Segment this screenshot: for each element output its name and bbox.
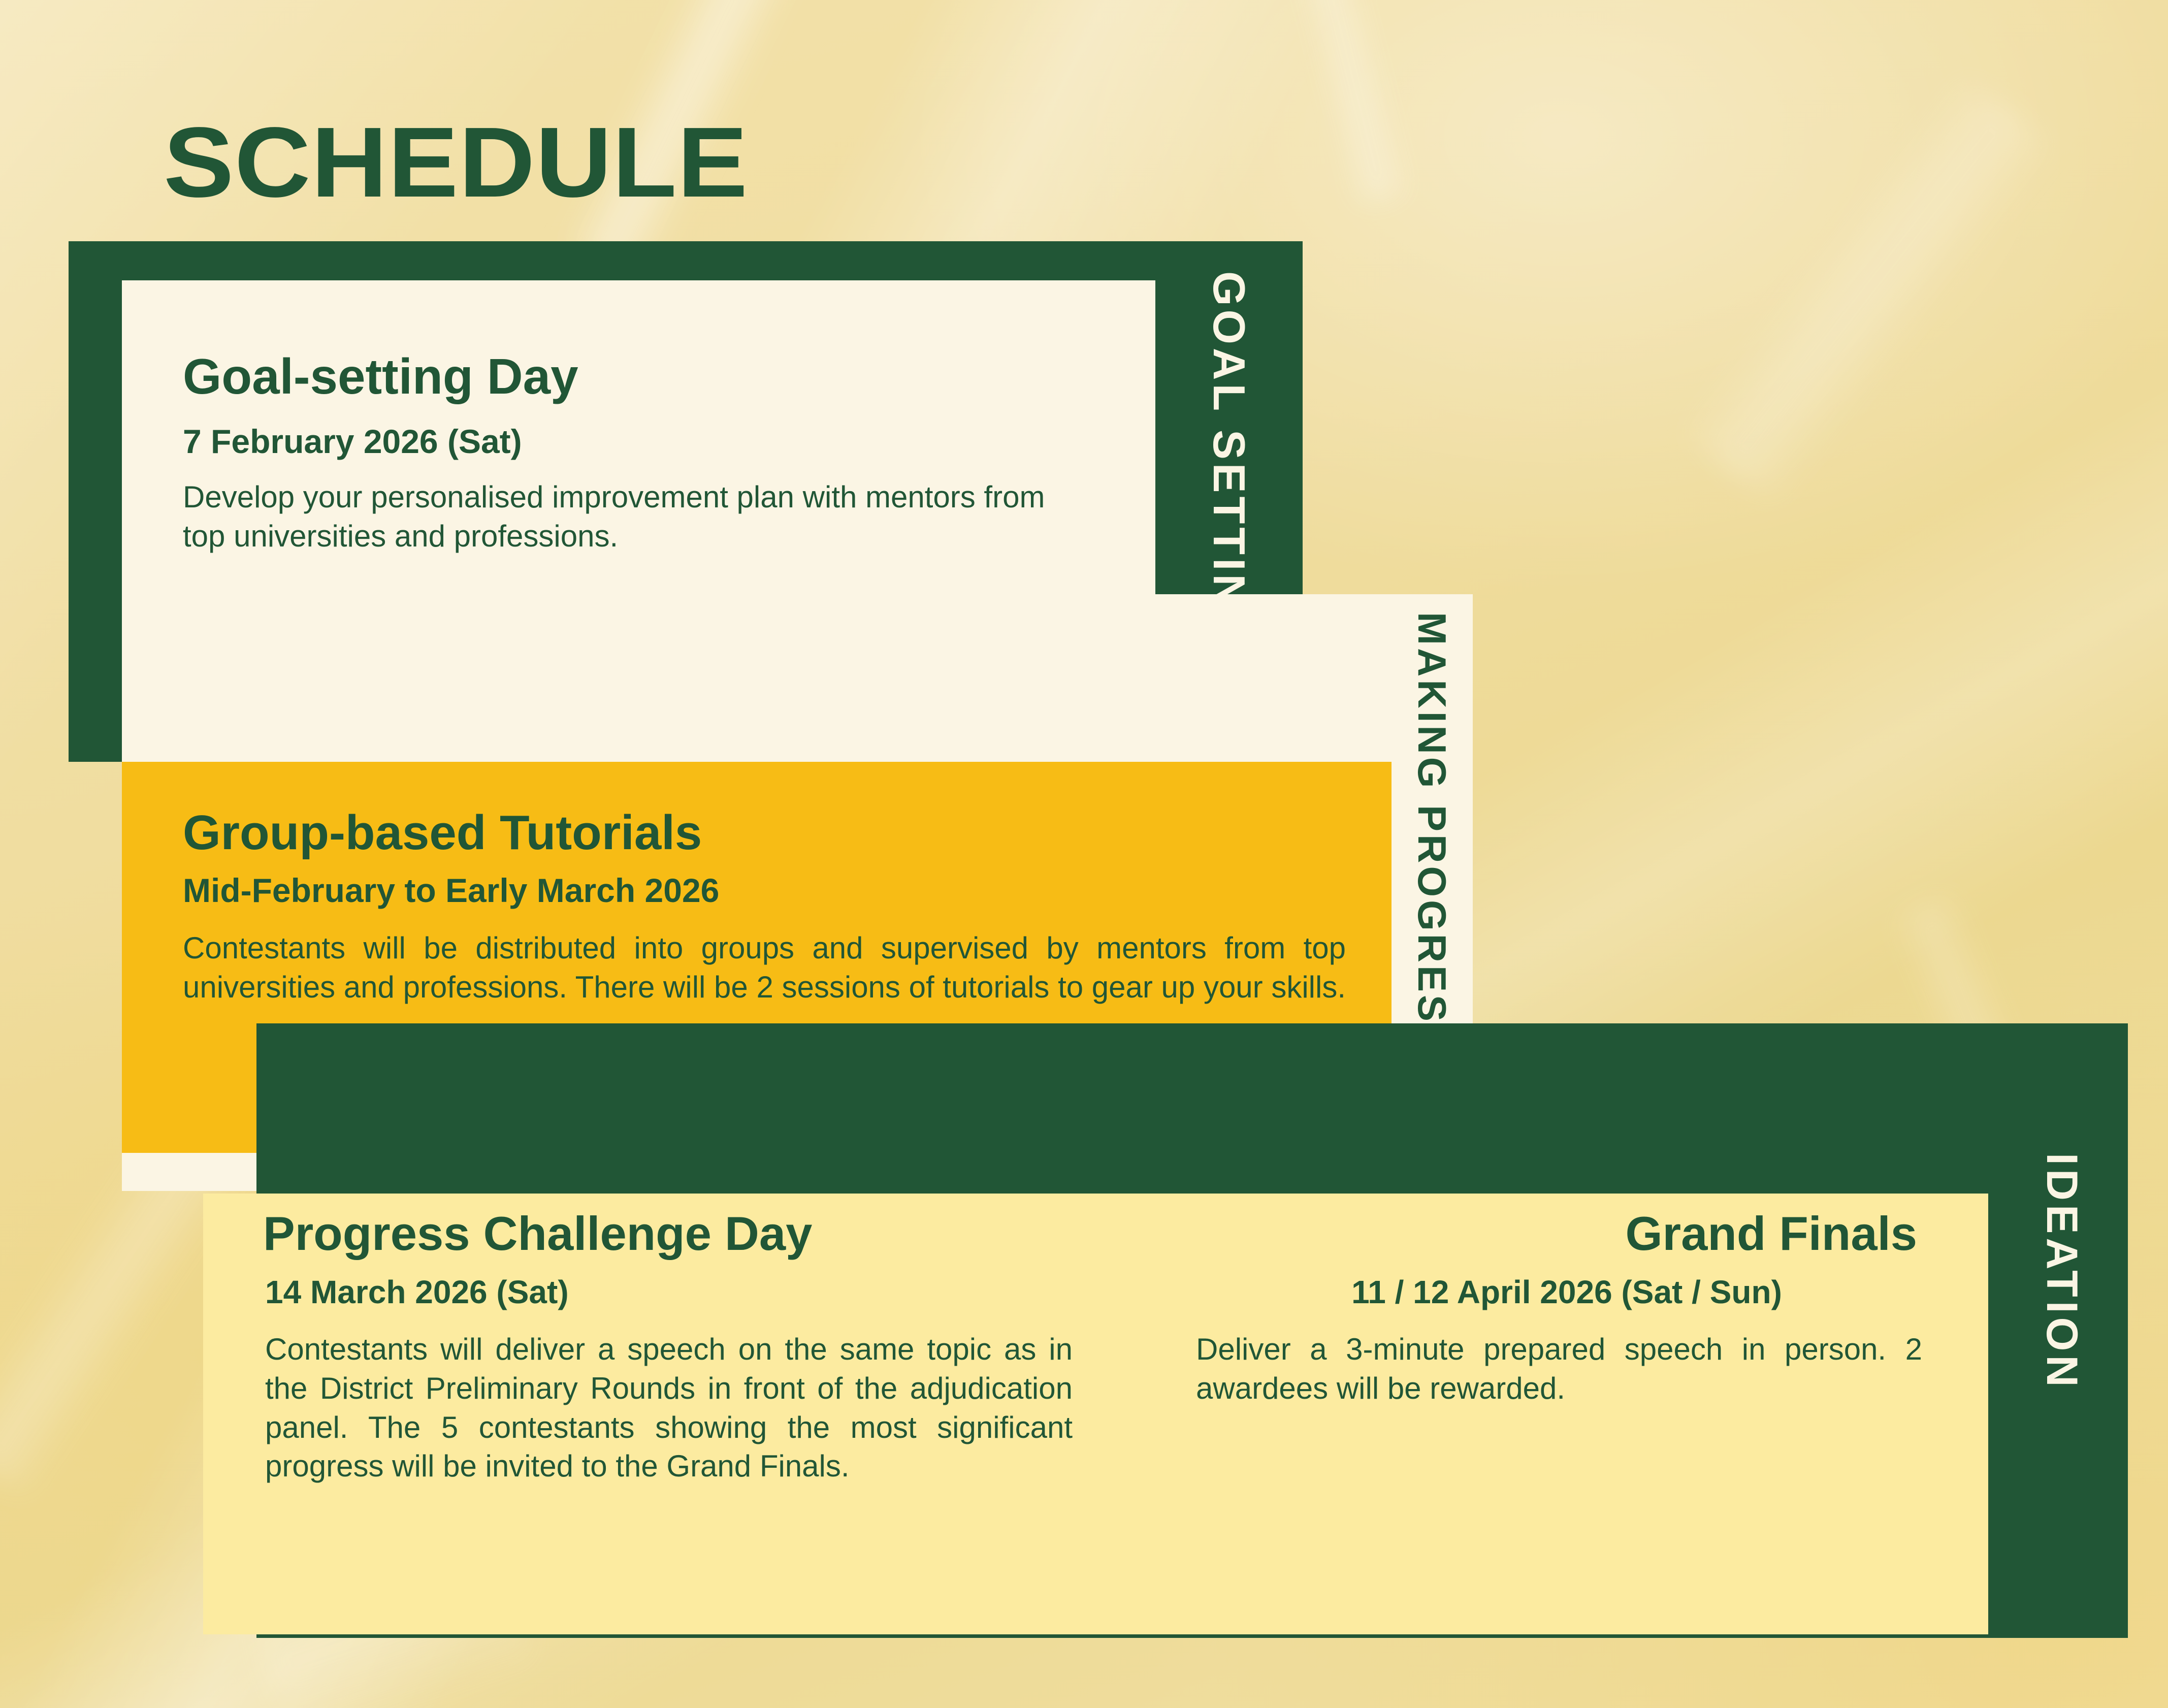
phase-label-ideation-text: IDEATION: [2040, 1148, 2084, 1391]
event-date: 11 / 12 April 2026 (Sat / Sun): [1196, 1274, 1937, 1310]
page-title: SCHEDULE: [164, 113, 748, 212]
progress-challenge-day-event: Progress Challenge Day 14 March 2026 (Sa…: [254, 1209, 1082, 1486]
event-date: Mid-February to Early March 2026: [183, 872, 1346, 909]
phase-label-ideation: IDEATION: [1996, 1148, 2128, 1635]
event-description: Contestants will deliver a speech on the…: [254, 1330, 1073, 1486]
event-title: Progress Challenge Day: [254, 1209, 1082, 1259]
event-title: Goal-setting Day: [183, 350, 1092, 403]
event-description: Contestants will be distributed into gro…: [183, 929, 1346, 1007]
event-title: Group-based Tutorials: [183, 808, 1346, 859]
event-date: 14 March 2026 (Sat): [254, 1274, 1082, 1310]
grand-finals-event: Grand Finals 11 / 12 April 2026 (Sat / S…: [1196, 1209, 1937, 1408]
schedule-poster: SCHEDULE GOAL SETTING Goal-setting Day 7…: [0, 0, 2168, 1708]
making-progress-event: Group-based Tutorials Mid-February to Ea…: [183, 808, 1346, 1007]
event-date: 7 February 2026 (Sat): [183, 423, 1092, 460]
goal-setting-event: Goal-setting Day 7 February 2026 (Sat) D…: [183, 350, 1092, 556]
event-title: Grand Finals: [1196, 1209, 1937, 1259]
paper-crinkle-highlight: [1676, 69, 2062, 510]
phase-label-making-progress-text: MAKING PROGRESS: [1412, 607, 1452, 1054]
paper-crinkle-highlight: [1289, 0, 1412, 207]
phase-label-goal-setting-text: GOAL SETTING: [1207, 264, 1251, 648]
event-description: Develop your personalised improvement pl…: [183, 478, 1092, 556]
event-description: Deliver a 3-minute prepared speech in pe…: [1196, 1330, 1922, 1408]
